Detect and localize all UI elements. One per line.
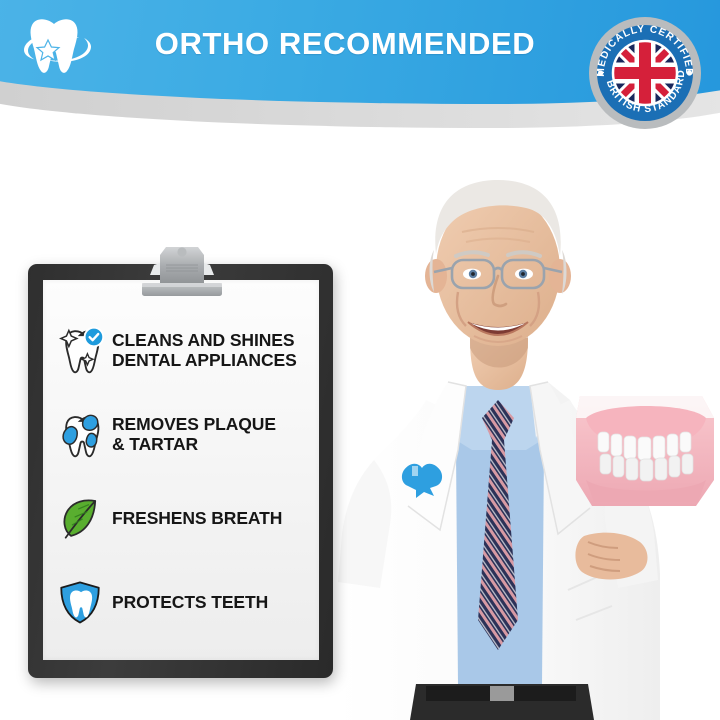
benefit-line-1: REMOVES PLAQUE <box>112 414 276 434</box>
benefit-line-1: PROTECTS TEETH <box>112 592 268 612</box>
list-item: FRESHENS BREATH <box>52 476 314 560</box>
list-item-label: PROTECTS TEETH <box>112 592 268 612</box>
benefit-line-1: FRESHENS BREATH <box>112 508 282 528</box>
senior-dentist-illustration <box>330 150 720 720</box>
page-title: ORTHO RECOMMENDED <box>110 18 580 70</box>
dental-model-icon <box>576 396 714 506</box>
benefit-line-2: DENTAL APPLIANCES <box>112 350 297 370</box>
tooth-swoosh-star-logo-icon <box>14 8 94 88</box>
list-item: PROTECTS TEETH <box>52 560 314 644</box>
shield-tooth-icon <box>52 574 108 630</box>
medically-certified-badge-icon: MEDICALLY CERTIFIED TO BRITISH STANDARDS <box>586 14 704 132</box>
benefit-line-2: & TARTAR <box>112 434 276 454</box>
list-item-label: FRESHENS BREATH <box>112 508 282 528</box>
sparkling-tooth-check-icon <box>52 322 108 378</box>
benefit-line-1: CLEANS AND SHINES <box>112 330 297 350</box>
list-item-label: REMOVES PLAQUE & TARTAR <box>112 414 276 455</box>
benefits-list: CLEANS AND SHINES DENTAL APPLIANCES REMO… <box>52 308 314 644</box>
tooth-plaque-icon <box>52 406 108 462</box>
dentist-head <box>425 180 571 346</box>
list-item: REMOVES PLAQUE & TARTAR <box>52 392 314 476</box>
clipboard-clip-icon <box>136 241 228 303</box>
promo-banner-image: ORTHO RECOMMENDED <box>0 0 720 720</box>
brand-logo <box>14 8 94 88</box>
mint-leaf-icon <box>52 490 108 546</box>
list-item: CLEANS AND SHINES DENTAL APPLIANCES <box>52 308 314 392</box>
status-badge: MEDICALLY CERTIFIED TO BRITISH STANDARDS <box>586 14 704 132</box>
list-item-label: CLEANS AND SHINES DENTAL APPLIANCES <box>112 330 297 371</box>
dentist-photo <box>330 150 720 720</box>
